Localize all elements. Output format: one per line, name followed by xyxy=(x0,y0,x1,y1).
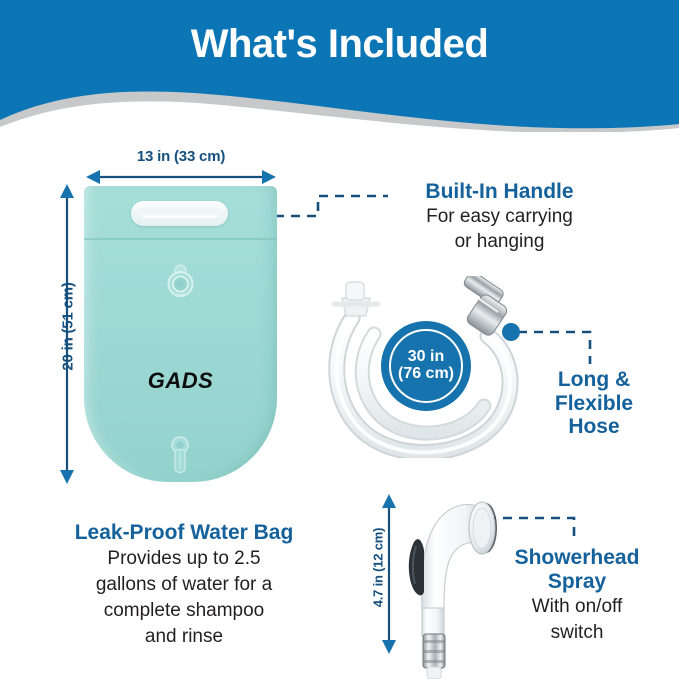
built-in-handle xyxy=(131,201,228,226)
fill-valve-icon xyxy=(164,261,197,299)
bag-height-dimension: 20 in (51 cm) xyxy=(34,184,76,484)
callout-bag-sub-line-4: and rinse xyxy=(18,625,350,649)
bag-height-arrow xyxy=(58,184,76,484)
callout-hose-title-line-3: Hose xyxy=(514,415,674,439)
page-title: What's Included xyxy=(0,22,679,66)
callout-bag-title: Leak-Proof Water Bag xyxy=(18,521,350,545)
bag-width-label: 13 in (33 cm) xyxy=(86,148,276,165)
leader-hose xyxy=(518,332,590,364)
callout-bag-sub-line-2: gallons of water for a xyxy=(18,573,350,597)
callout-handle-title: Built-In Handle xyxy=(392,180,607,204)
callout-bag-sub-line-3: complete shampoo xyxy=(18,599,350,623)
callout-spray-sub-line-2: switch xyxy=(482,621,672,645)
water-bag-illustration: GADS xyxy=(84,186,277,482)
hose-chrome-connector xyxy=(462,276,509,337)
callout-bag-sub-line-1: Provides up to 2.5 xyxy=(18,547,350,571)
hose-barb-connector xyxy=(334,282,378,316)
callout-built-in-handle: Built-In Handle For easy carrying or han… xyxy=(392,180,607,254)
hose-length-line-2: (76 cm) xyxy=(398,366,454,383)
hose-length-line-1: 30 in xyxy=(408,349,444,366)
callout-showerhead-spray: Showerhead Spray With on/off switch xyxy=(482,546,672,645)
drain-valve-icon xyxy=(166,436,194,476)
callout-handle-sub-line-2: or hanging xyxy=(392,230,607,254)
hose-illustration: 30 in (76 cm) xyxy=(322,276,522,458)
callout-hose-title-line-2: Flexible xyxy=(514,392,674,416)
bag-width-dimension: 13 in (33 cm) xyxy=(86,148,276,186)
callout-handle-sub-line-1: For easy carrying xyxy=(392,205,607,229)
hose-length-badge: 30 in (76 cm) xyxy=(384,324,468,408)
callout-hose-title-line-1: Long & xyxy=(514,368,674,392)
handle-slot xyxy=(140,209,219,218)
callout-spray-title-line-2: Spray xyxy=(482,570,672,594)
header-banner: What's Included xyxy=(0,0,679,132)
callout-leak-proof-water-bag: Leak-Proof Water Bag Provides up to 2.5 … xyxy=(18,521,350,649)
bag-width-arrow xyxy=(86,168,276,186)
header-wave-background xyxy=(0,0,679,132)
brand-logo: GADS xyxy=(84,368,277,394)
callout-spray-title-line-1: Showerhead xyxy=(482,546,672,570)
water-bag-seam xyxy=(84,238,277,240)
infographic-canvas: What's Included 13 in (33 cm) 20 in (51 … xyxy=(0,0,679,679)
callout-spray-sub-line-1: With on/off xyxy=(482,595,672,619)
callout-long-flexible-hose: Long & Flexible Hose xyxy=(514,368,674,439)
